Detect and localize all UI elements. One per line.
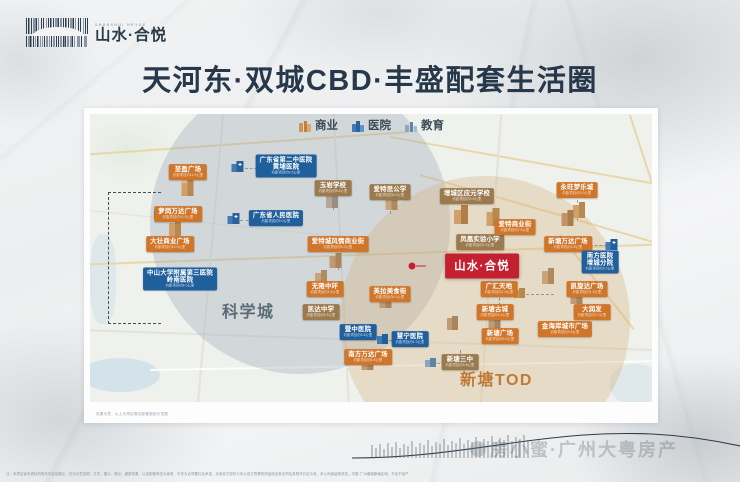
- poi-pill[interactable]: 新塘广场约距项目约3.0公里: [482, 328, 519, 344]
- poi-distance: 约距项目约4.2公里: [396, 341, 425, 345]
- poi-distance: 约距项目约4.5公里: [311, 291, 340, 295]
- legend-item-education: 教育: [404, 117, 444, 133]
- poi-distance: 约距项目约2.2公里: [578, 314, 607, 318]
- building-block-icon: [542, 267, 556, 290]
- map-legend: 商业 医院 教育: [84, 115, 658, 135]
- poi-distance: 约距项目约10.5公里: [158, 216, 198, 220]
- building-block-icon: [181, 177, 196, 202]
- poi-pill[interactable]: 金海岸城市广场约距项目约2.6公里: [538, 321, 592, 337]
- legend-item-hospital: 医院: [351, 117, 391, 133]
- legal-disclaimer: 注：本项目宣传资料的相关内容及图示，仅为示意说明，文字、图片、图示、细部效果、以…: [6, 471, 734, 476]
- poi-pill[interactable]: 无限中环约距项目约4.5公里: [307, 281, 344, 297]
- poi-pill[interactable]: 萝岗万达广场约距项目约10.5公里: [154, 206, 202, 222]
- poi-pill[interactable]: 凯达中学约距项目约5.5公里: [303, 304, 340, 320]
- page-title: 天河东·双城CBD·丰盛配套生活圈: [0, 57, 740, 99]
- poi-distance: 约距项目约3.5公里: [444, 198, 490, 202]
- project-dot-marker: [409, 263, 416, 270]
- poi-pill[interactable]: 凯旋达广场约距项目约1.8公里: [567, 281, 608, 297]
- poi-distance: 约距项目约3.4公里: [481, 314, 510, 318]
- poi-distance: 约距项目约5.8公里: [344, 334, 373, 338]
- poi-pill[interactable]: 爱特商业街约距项目约2.5公里: [495, 219, 536, 235]
- legend-label-education: 教育: [421, 117, 444, 133]
- poi-distance: 约距项目约2.0公里: [460, 244, 500, 248]
- water-body: [90, 358, 160, 392]
- poi-pill[interactable]: 广东省第二中医院黄埔医院约距项目约9.5公里: [256, 154, 317, 177]
- poi-distance: 约距项目约10.0公里: [150, 246, 190, 250]
- poi-pill[interactable]: 爱特思公学约距项目约6.0公里: [370, 184, 411, 200]
- commerce-building-icon: [298, 119, 311, 132]
- map-connector: [526, 294, 554, 295]
- poi-distance: 约距项目约5.0公里: [312, 246, 365, 250]
- location-map[interactable]: 科学城 新塘TOD: [90, 114, 652, 402]
- building-block-icon: [447, 315, 459, 336]
- poi-pill[interactable]: 大润发约距项目约2.2公里: [574, 304, 611, 320]
- poi-pill[interactable]: 中山大学附属第三医院岭南医院约距项目约8.0公里: [143, 267, 217, 290]
- hospital-building-icon: [351, 119, 364, 132]
- poster-page: SHANSHUI HEYUE 山水·合悦 天河东·双城CBD·丰盛配套生活圈 商…: [0, 0, 740, 482]
- poi-pill[interactable]: 慧宁医院约距项目约4.2公里: [392, 331, 429, 347]
- legend-label-hospital: 医院: [368, 117, 391, 133]
- poi-pill[interactable]: 新塘三中约距项目约3.8公里: [442, 354, 479, 370]
- poi-name: 南方医院增城分院: [586, 252, 615, 266]
- poi-pill[interactable]: 至盈广场约距项目约11.0公里: [169, 164, 207, 180]
- footer-mountain-graphic: [352, 432, 740, 462]
- poi-pill[interactable]: 大壮商业广场约距项目约10.0公里: [146, 236, 194, 252]
- project-label-text: 山水·合悦: [454, 261, 510, 273]
- poi-pill[interactable]: 爱特城风情商业街约距项目约5.0公里: [308, 236, 369, 252]
- education-building-icon: [404, 119, 417, 132]
- hospital-marker-icon[interactable]: [232, 159, 245, 177]
- poi-distance: 约距项目约2.6公里: [542, 331, 588, 335]
- poi-pill[interactable]: 广汇天地约距项目约1.5公里: [481, 281, 518, 297]
- building-block-icon: [573, 200, 587, 224]
- map-card: 商业 医院 教育: [84, 108, 658, 423]
- poi-distance: 约距项目约2.8公里: [548, 246, 588, 250]
- poi-distance: 约距项目约11.0公里: [173, 174, 203, 178]
- poi-distance: 约距项目约9.5公里: [260, 171, 313, 175]
- poi-distance: 约距项目约6.0公里: [374, 194, 407, 198]
- building-block-icon: [330, 252, 343, 274]
- legend-label-commerce: 商业: [315, 117, 338, 133]
- map-caption: 效果示意，以上为项目周边配套规划示意图: [96, 412, 168, 417]
- project-label[interactable]: 山水·合悦: [445, 254, 519, 279]
- poi-distance: 约距项目约9.0公里: [253, 220, 299, 224]
- district-label-science-city: 科学城: [222, 298, 275, 322]
- poi-distance: 约距项目约1.8公里: [571, 291, 604, 295]
- legend-item-commerce: 商业: [298, 117, 338, 133]
- building-block-icon: [454, 203, 470, 230]
- poi-distance: 约距项目约3.0公里: [561, 192, 594, 196]
- poi-distance: 约距项目约8.5公里: [319, 190, 348, 194]
- poi-name: 广东省第二中医院黄埔医院: [260, 156, 313, 170]
- poi-name: 中山大学附属第三医院岭南医院: [147, 269, 213, 283]
- poi-pill[interactable]: 暨中医院约距项目约5.8公里: [340, 324, 377, 340]
- poi-pill[interactable]: 南方万达广场约距项目约6.5公里: [344, 349, 392, 365]
- poi-pill[interactable]: 英拉美食街约距项目约4.0公里: [370, 286, 411, 302]
- poi-distance: 约距项目约2.5公里: [499, 229, 532, 233]
- poi-pill[interactable]: 广东省人民医院约距项目约9.0公里: [249, 210, 303, 226]
- poi-pill[interactable]: 新塘古城约距项目约3.4公里: [477, 304, 514, 320]
- poi-distance: 约距项目约6.5公里: [348, 359, 388, 363]
- poi-distance: 约距项目约3.8公里: [446, 364, 475, 368]
- poi-distance: 约距项目约3.2公里: [586, 267, 615, 271]
- building-block-icon: [562, 209, 575, 232]
- hospital-marker-icon[interactable]: [228, 211, 241, 229]
- poi-distance: 约距项目约1.5公里: [485, 291, 514, 295]
- poi-pill[interactable]: 南方医院增城分院约距项目约3.2公里: [582, 250, 619, 273]
- poi-distance: 约距项目约8.0公里: [147, 284, 213, 288]
- poi-distance: 约距项目约3.0公里: [486, 338, 515, 342]
- brand-logo: SHANSHUI HEYUE 山水·合悦: [26, 18, 167, 48]
- poi-pill[interactable]: 增城区应元学校约距项目约3.5公里: [440, 188, 494, 204]
- hospital-marker-icon[interactable]: [377, 331, 389, 349]
- brand-name: 山水·合悦: [95, 28, 167, 44]
- poi-pill[interactable]: 凤凰实验小学约距项目约2.0公里: [456, 234, 504, 250]
- project-connector: [416, 266, 426, 267]
- barcode-mountain-logo-icon: [26, 18, 88, 48]
- education-marker-icon[interactable]: [425, 354, 437, 372]
- poi-pill[interactable]: 玉岩学校约距项目约8.5公里: [315, 180, 352, 196]
- poi-pill[interactable]: 永旺梦乐城约距项目约3.0公里: [557, 182, 598, 198]
- brand-english-tagline: SHANSHUI HEYUE: [95, 23, 167, 27]
- poi-distance: 约距项目约4.0公里: [374, 296, 407, 300]
- poi-distance: 约距项目约5.5公里: [307, 314, 336, 318]
